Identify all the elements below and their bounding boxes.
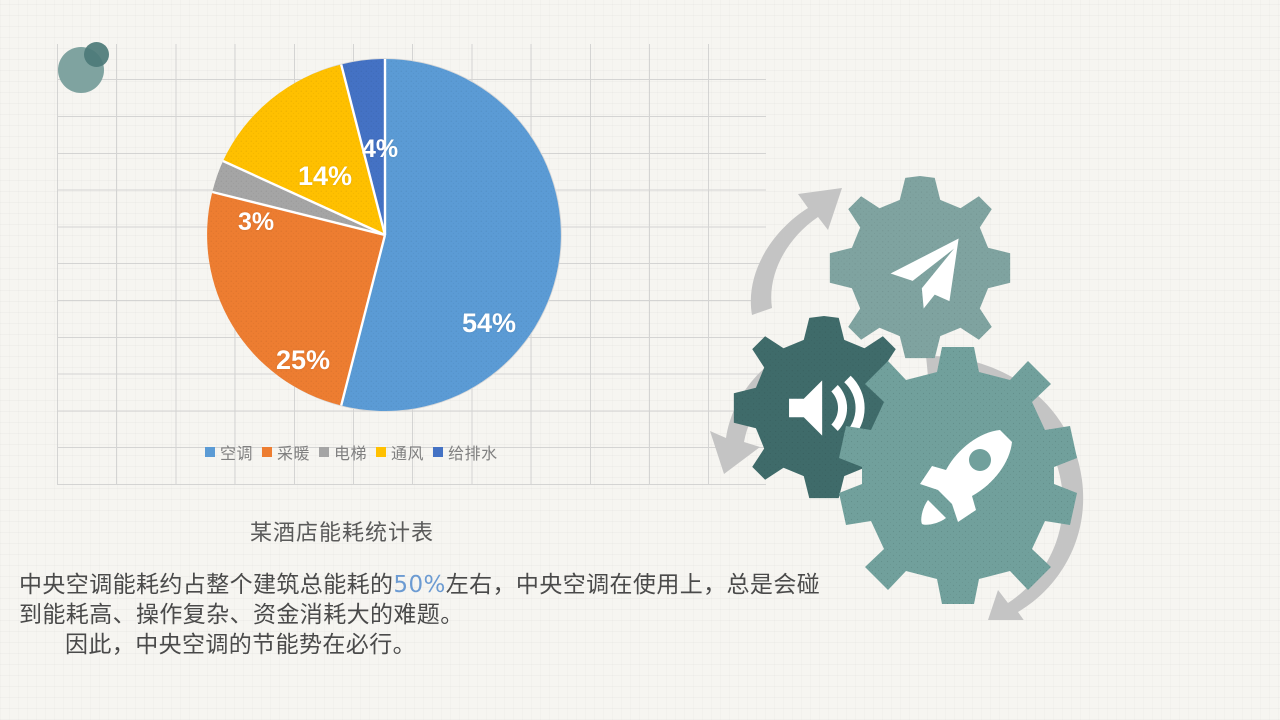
legend-label-cainuan: 采暖 <box>277 440 310 464</box>
legend-swatch-kongtiao <box>205 447 215 457</box>
legend-item-cainuan[interactable]: 采暖 <box>262 440 310 464</box>
legend-swatch-tongfeng <box>376 447 386 457</box>
legend-label-dianti: 电梯 <box>334 440 367 464</box>
chart-caption: 某酒店能耗统计表 <box>250 515 434 547</box>
legend-item-kongtiao[interactable]: 空调 <box>205 440 253 464</box>
gears-illustration <box>690 150 1160 620</box>
pie-label-dianti: 3% <box>238 208 274 237</box>
body-line-3: 因此，中央空调的节能势在必行。 <box>19 630 869 660</box>
gear-rocket <box>839 347 1077 604</box>
legend-item-dianti[interactable]: 电梯 <box>319 440 367 464</box>
legend-label-kongtiao: 空调 <box>220 440 253 464</box>
legend-swatch-cainuan <box>262 447 272 457</box>
chart-legend: 空调 采暖 电梯 通风 给排水 <box>205 440 498 464</box>
slide-canvas: 54% 25% 3% 14% 4% 空调 采暖 电梯 通风 <box>0 0 1280 720</box>
gear-paper-plane <box>830 176 1010 358</box>
legend-item-tongfeng[interactable]: 通风 <box>376 440 424 464</box>
legend-label-jipaishui: 给排水 <box>448 440 498 464</box>
legend-swatch-dianti <box>319 447 329 457</box>
legend-swatch-jipaishui <box>433 447 443 457</box>
gears-svg <box>690 150 1160 620</box>
body-line-1-part-a: 中央空调能耗约占整个建筑总能耗的 <box>19 572 393 598</box>
pie-label-tongfeng: 14% <box>298 161 352 192</box>
pie-chart-plot: 54% 25% 3% 14% 4% <box>190 40 580 430</box>
pie-label-kongtiao: 54% <box>462 308 516 339</box>
logo-circle-small <box>84 42 109 67</box>
legend-item-jipaishui[interactable]: 给排水 <box>433 440 498 464</box>
body-highlight-50: 50% <box>393 572 445 598</box>
pie-label-cainuan: 25% <box>276 345 330 376</box>
pie-chart: 54% 25% 3% 14% 4% 空调 采暖 电梯 通风 <box>190 40 610 470</box>
legend-label-tongfeng: 通风 <box>391 440 424 464</box>
pie-label-jipaishui: 4% <box>362 135 398 164</box>
arrow-up-left <box>751 188 842 315</box>
overlapping-circles-logo <box>57 41 115 96</box>
